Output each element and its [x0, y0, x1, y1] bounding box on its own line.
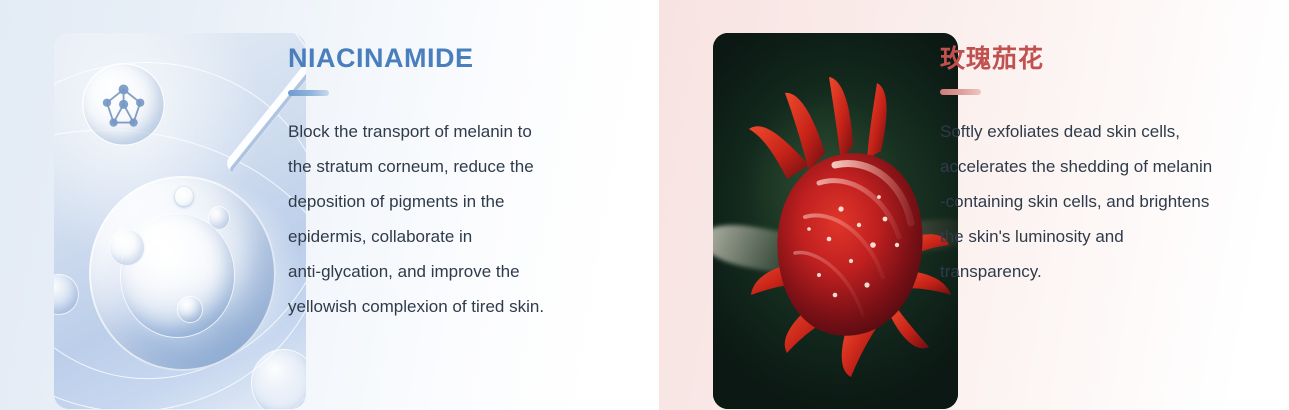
card-description-roselle: Softly exfoliates dead skin cells, accel… [940, 114, 1275, 289]
card-description-niacinamide: Block the transport of melanin to the st… [288, 114, 618, 324]
ingredient-card-roselle: 玫瑰茄花 Softly exfoliates dead skin cells, … [659, 0, 1289, 410]
description-line: accelerates the shedding of melanin [940, 149, 1275, 184]
flower-bud-shape [713, 33, 958, 409]
card-title-roselle: 玫瑰茄花 [940, 44, 1275, 74]
ingredient-card-niacinamide: NIACINAMIDE Block the transport of melan… [0, 0, 648, 410]
description-line: yellowish complexion of tired skin. [288, 289, 618, 324]
description-line: the skin's luminosity and [940, 219, 1275, 254]
card-title-niacinamide: NIACINAMIDE [288, 44, 618, 74]
description-line: the stratum corneum, reduce the [288, 149, 618, 184]
bubble-icon [109, 229, 144, 267]
description-line: Block the transport of melanin to [288, 114, 618, 149]
description-line: epidermis, collaborate in [288, 219, 618, 254]
serum-molecule-bubbles-image [54, 33, 306, 409]
description-line: transparency. [940, 254, 1275, 289]
droplet-icon [175, 187, 193, 206]
title-accent-bar [940, 89, 981, 95]
card-content-roselle: 玫瑰茄花 Softly exfoliates dead skin cells, … [940, 44, 1275, 289]
card-content-niacinamide: NIACINAMIDE Block the transport of melan… [288, 44, 618, 324]
roselle-hibiscus-flower-bud-image [713, 33, 958, 409]
molecule-structure-icon [82, 63, 165, 146]
title-accent-bar [288, 90, 329, 96]
description-line: deposition of pigments in the [288, 184, 618, 219]
description-line: anti-glycation, and improve the [288, 254, 618, 289]
ingredient-image-niacinamide [54, 33, 306, 409]
pipette-dropper-icon [170, 33, 306, 213]
description-line: Softly exfoliates dead skin cells, [940, 114, 1275, 149]
bubble-icon [177, 296, 202, 322]
description-line: -containing skin cells, and brightens [940, 184, 1275, 219]
ingredient-cards-panel: NIACINAMIDE Block the transport of melan… [0, 0, 1289, 410]
ingredient-image-roselle [713, 33, 958, 409]
